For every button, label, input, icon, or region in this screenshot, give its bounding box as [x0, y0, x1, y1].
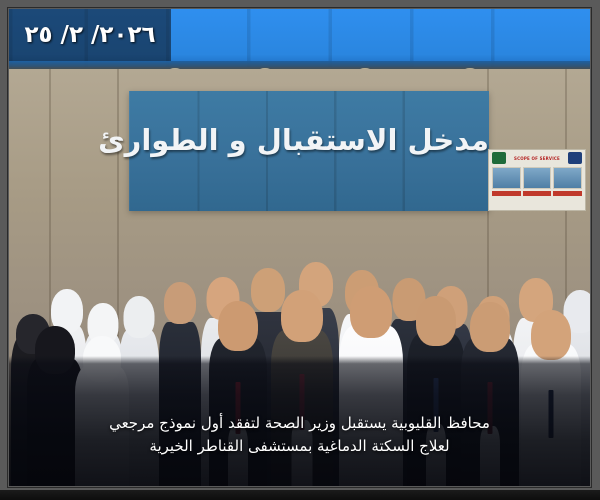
- news-photo-card: مدخل الاستقبال و الطوارئ SCOPE OF SERVIC…: [0, 0, 600, 500]
- hospital-entrance-sign-text: مدخل الاستقبال و الطوارئ: [129, 123, 489, 157]
- caption-line-2: لعلاج السكتة الدماغية بمستشفى القناطر ال…: [25, 435, 574, 458]
- caption-line-1: محافظ القليوبية يستقبل وزير الصحة لتفقد …: [25, 412, 574, 435]
- date-badge-text: ٢٠٢٦/ ٢/ ٢٥: [24, 22, 155, 48]
- photo-caption: محافظ القليوبية يستقبل وزير الصحة لتفقد …: [25, 412, 574, 459]
- frame-bottom-shadow: [0, 490, 600, 500]
- date-badge: ٢٠٢٦/ ٢/ ٢٥: [9, 9, 171, 61]
- photo-viewport: مدخل الاستقبال و الطوارئ SCOPE OF SERVIC…: [9, 9, 590, 486]
